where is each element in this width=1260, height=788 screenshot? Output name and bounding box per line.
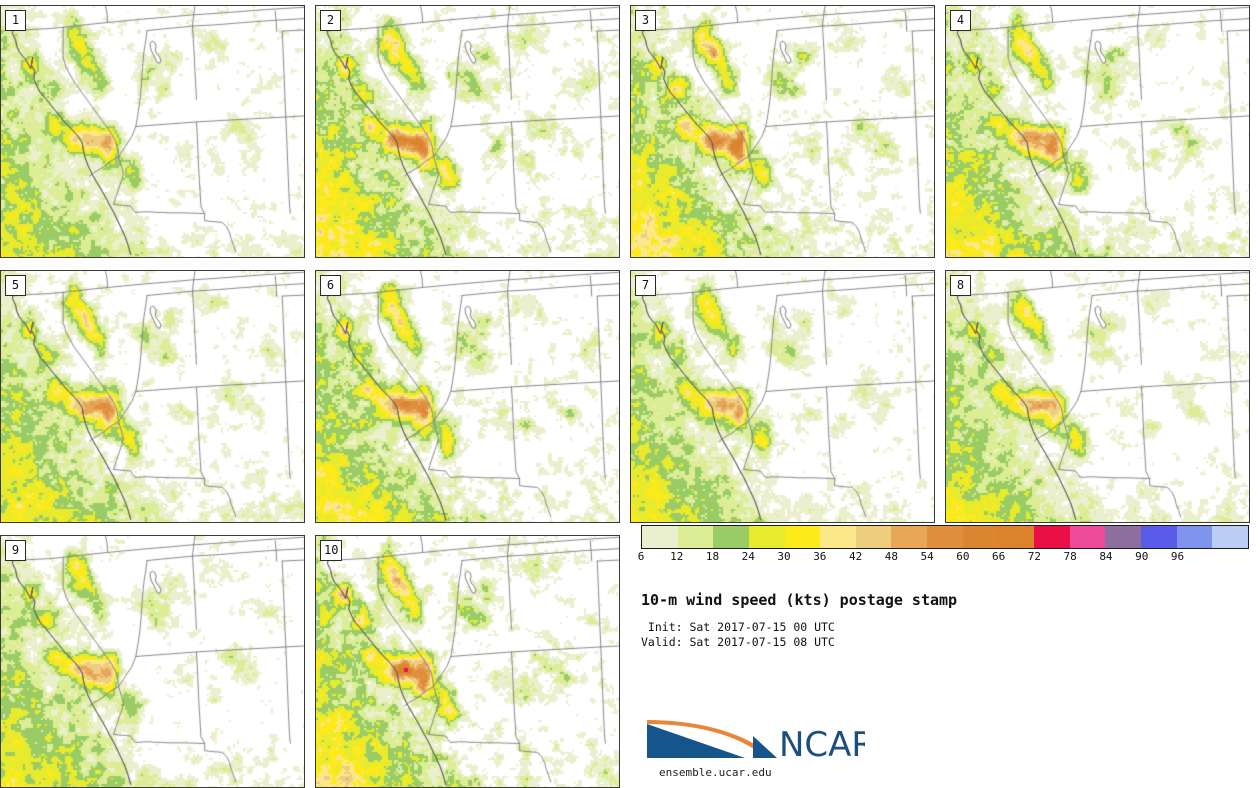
colorbar-swatch bbox=[678, 526, 714, 548]
colorbar-tick-labels: 6121824303642485460667278849096 bbox=[641, 550, 1249, 566]
colorbar-swatch bbox=[963, 526, 999, 548]
ncar-url: ensemble.ucar.edu bbox=[659, 766, 772, 779]
colorbar-tick: 84 bbox=[1099, 550, 1112, 563]
panel-number-label: 3 bbox=[635, 10, 656, 31]
panel-number-label: 1 bbox=[5, 10, 26, 31]
map-panel: 7 bbox=[630, 270, 935, 523]
figure-title: 10-m wind speed (kts) postage stamp bbox=[641, 591, 957, 609]
colorbar-swatch bbox=[820, 526, 856, 548]
panel-number-label: 7 bbox=[635, 275, 656, 296]
colorbar-tick: 54 bbox=[920, 550, 933, 563]
figure-time-info: Init: Sat 2017-07-15 00 UTC Valid: Sat 2… bbox=[641, 620, 835, 650]
colorbar-swatch bbox=[1212, 526, 1248, 548]
wind-speed-field bbox=[316, 271, 619, 522]
panel-number-label: 10 bbox=[320, 540, 342, 561]
colorbar-tick: 96 bbox=[1171, 550, 1184, 563]
colorbar-tick: 78 bbox=[1064, 550, 1077, 563]
panel-number-label: 6 bbox=[320, 275, 341, 296]
wind-speed-field bbox=[946, 6, 1249, 257]
legend-info-block: 6121824303642485460667278849096 10-m win… bbox=[632, 520, 1260, 778]
wind-speed-field bbox=[1, 271, 304, 522]
colorbar-tick: 30 bbox=[777, 550, 790, 563]
colorbar-tick: 48 bbox=[885, 550, 898, 563]
map-panel: 5 bbox=[0, 270, 305, 523]
map-panel: 10 bbox=[315, 535, 620, 788]
map-panel: 4 bbox=[945, 5, 1250, 258]
wind-speed-field bbox=[631, 6, 934, 257]
wind-speed-field bbox=[946, 271, 1249, 522]
wind-speed-field bbox=[316, 536, 619, 787]
map-panel: 8 bbox=[945, 270, 1250, 523]
ncar-logo: NCAR ensemble.ucar.edu bbox=[645, 714, 865, 776]
colorbar-tick: 42 bbox=[849, 550, 862, 563]
colorbar-tick: 18 bbox=[706, 550, 719, 563]
map-panel: 6 bbox=[315, 270, 620, 523]
colorbar-swatch bbox=[1034, 526, 1070, 548]
colorbar-tick: 12 bbox=[670, 550, 683, 563]
colorbar-swatch bbox=[1070, 526, 1106, 548]
ncar-wordmark: NCAR bbox=[779, 725, 865, 765]
colorbar-swatch bbox=[1141, 526, 1177, 548]
colorbar-swatch bbox=[749, 526, 785, 548]
wind-speed-field bbox=[1, 6, 304, 257]
colorbar-swatch bbox=[642, 526, 678, 548]
panel-number-label: 8 bbox=[950, 275, 971, 296]
colorbar-swatch bbox=[1105, 526, 1141, 548]
colorbar-tick: 6 bbox=[638, 550, 645, 563]
map-panel: 9 bbox=[0, 535, 305, 788]
colorbar-swatch bbox=[1177, 526, 1213, 548]
valid-line: Valid: Sat 2017-07-15 08 UTC bbox=[641, 635, 835, 649]
colorbar-tick: 90 bbox=[1135, 550, 1148, 563]
colorbar-tick: 60 bbox=[956, 550, 969, 563]
wind-speed-field bbox=[631, 271, 934, 522]
colorbar-tick: 66 bbox=[992, 550, 1005, 563]
colorbar-swatch bbox=[927, 526, 963, 548]
colorbar-swatch bbox=[891, 526, 927, 548]
panel-number-label: 2 bbox=[320, 10, 341, 31]
panel-number-label: 4 bbox=[950, 10, 971, 31]
colorbar-tick: 36 bbox=[813, 550, 826, 563]
colorbar-wrap: 6121824303642485460667278849096 bbox=[641, 525, 1249, 549]
colorbar-tick: 72 bbox=[1028, 550, 1041, 563]
wind-speed-field bbox=[1, 536, 304, 787]
map-panel: 3 bbox=[630, 5, 935, 258]
colorbar-swatch bbox=[998, 526, 1034, 548]
colorbar-tick: 24 bbox=[742, 550, 755, 563]
init-line: Init: Sat 2017-07-15 00 UTC bbox=[641, 620, 835, 634]
colorbar-swatch bbox=[856, 526, 892, 548]
panel-number-label: 5 bbox=[5, 275, 26, 296]
wind-speed-colorbar bbox=[641, 525, 1249, 549]
ncar-logo-mark: NCAR bbox=[645, 714, 865, 766]
colorbar-swatch bbox=[713, 526, 749, 548]
map-panel: 1 bbox=[0, 5, 305, 258]
panel-number-label: 9 bbox=[5, 540, 26, 561]
wind-speed-field bbox=[316, 6, 619, 257]
colorbar-swatch bbox=[785, 526, 821, 548]
map-panel: 2 bbox=[315, 5, 620, 258]
